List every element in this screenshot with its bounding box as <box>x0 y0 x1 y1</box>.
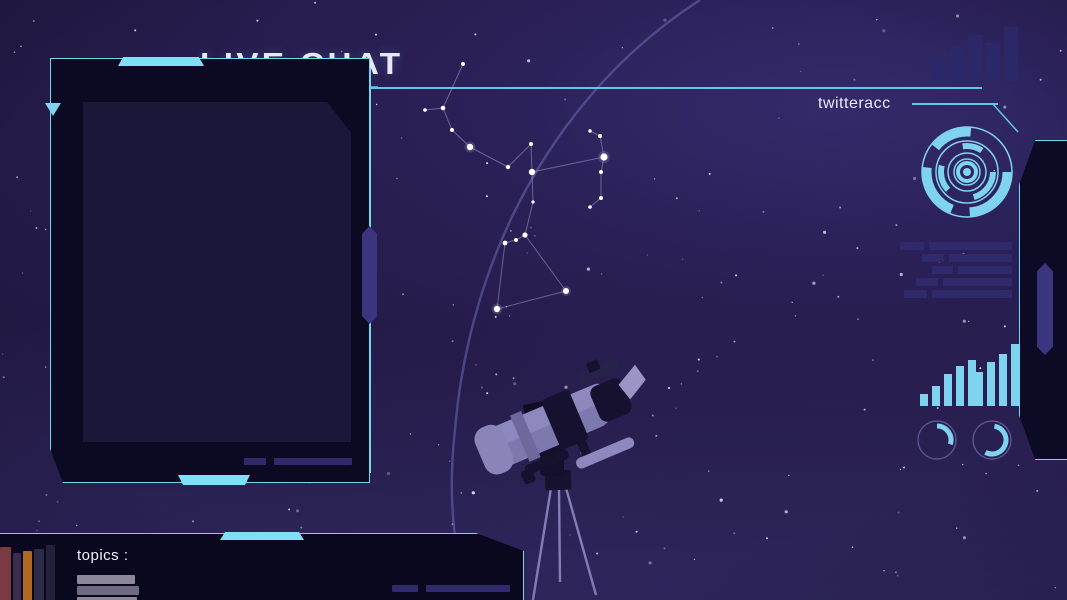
live-chat-panel[interactable] <box>50 58 370 483</box>
hud-row-tag <box>932 266 953 274</box>
gauge-right <box>971 419 1013 461</box>
hud-data-row <box>900 278 1012 286</box>
shelf-book <box>46 545 55 600</box>
hud-data-rows <box>900 242 1012 302</box>
hud-username-label: twitteracc <box>818 95 891 113</box>
screen-root: LIVE CHAT twitteracc <box>0 0 1067 600</box>
hud-row-tag <box>900 242 924 250</box>
right-edge-tick-marks <box>0 330 1011 385</box>
hud-top-bar-chart <box>932 27 1018 81</box>
hud-row-tag <box>922 254 944 262</box>
bar-3 <box>968 35 982 81</box>
bar-5 <box>1004 27 1018 81</box>
hud-row-bar <box>943 278 1012 286</box>
hud-row-bar <box>929 242 1012 250</box>
hud-row-bar <box>958 266 1012 274</box>
hud-data-row <box>900 254 1012 262</box>
shelf-book <box>13 553 21 600</box>
topics-label: topics : <box>77 547 129 564</box>
stacked-book <box>77 586 139 595</box>
topics-status-bar-small <box>392 585 418 592</box>
chat-status-bar-wide <box>274 458 352 465</box>
hud-row-bar <box>932 290 1012 298</box>
right-edge-panel[interactable] <box>1019 140 1067 460</box>
chat-status-bar-small <box>244 458 266 465</box>
title-underline-rule <box>370 87 982 89</box>
chat-panel-top-tab <box>118 57 204 66</box>
hud-data-row <box>900 290 1012 298</box>
chat-scrollbar-thumb[interactable] <box>362 226 377 324</box>
chat-panel-status-bars <box>244 458 352 465</box>
topics-panel-top-tab <box>220 532 304 540</box>
topics-status-bars <box>392 585 510 592</box>
hud-row-tag <box>904 290 927 298</box>
bar-1 <box>932 59 946 81</box>
topics-panel[interactable]: topics : <box>0 533 524 600</box>
radar-dial-icon <box>920 125 1014 219</box>
chat-panel-bottom-tab <box>178 475 250 485</box>
shelf-book <box>34 549 44 600</box>
bookshelf-icon <box>0 545 66 600</box>
hud-username-leader-line <box>912 103 998 105</box>
bar-4 <box>986 43 1000 81</box>
bar-1 <box>920 394 928 406</box>
bar-4 <box>1011 344 1019 406</box>
bar-2 <box>950 47 964 81</box>
shelf-book <box>23 551 32 600</box>
topics-status-bar-wide <box>426 585 510 592</box>
shelf-book <box>0 547 11 600</box>
hud-row-tag <box>916 278 938 286</box>
hud-data-row <box>900 242 1012 250</box>
right-edge-scrollbar-thumb[interactable] <box>1037 263 1053 355</box>
hud-row-bar <box>949 254 1012 262</box>
gauge-left <box>916 419 958 461</box>
chat-message-area[interactable] <box>83 102 351 442</box>
chat-panel-marker-triangle-icon <box>45 103 61 116</box>
stacked-book <box>77 575 135 584</box>
bar-2 <box>932 386 940 406</box>
book-stack-icon <box>77 573 139 600</box>
hud-data-row <box>900 266 1012 274</box>
